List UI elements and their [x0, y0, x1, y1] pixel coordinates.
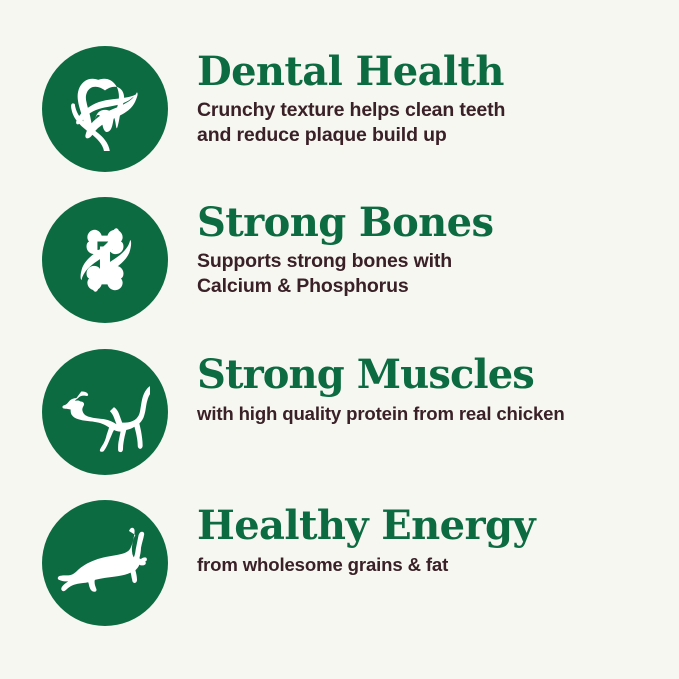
benefit-title: Strong Bones	[197, 201, 659, 245]
benefit-row: Dental Health Crunchy texture helps clea…	[42, 40, 659, 191]
benefit-description: Supports strong bones with Calcium & Pho…	[197, 249, 659, 299]
benefits-panel: Dental Health Crunchy texture helps clea…	[0, 0, 679, 679]
benefit-description: from wholesome grains & fat	[197, 552, 659, 577]
benefit-text: Dental Health Crunchy texture helps clea…	[168, 40, 659, 148]
benefit-description: with high quality protein from real chic…	[197, 401, 659, 426]
benefit-description: Crunchy texture helps clean teeth and re…	[197, 98, 659, 148]
benefit-title: Dental Health	[197, 50, 659, 94]
benefit-row: Healthy Energy from wholesome grains & f…	[42, 494, 659, 645]
leaping-dog-icon	[57, 515, 153, 611]
leaping-dog-icon-badge	[42, 500, 168, 626]
benefit-row: Strong Bones Supports strong bones with …	[42, 191, 659, 342]
benefit-title: Healthy Energy	[197, 504, 659, 548]
benefit-text: Healthy Energy from wholesome grains & f…	[168, 494, 659, 577]
benefit-title: Strong Muscles	[197, 353, 659, 397]
tooth-leaf-icon-badge	[42, 46, 168, 172]
tooth-leaf-icon	[63, 67, 147, 151]
standing-dog-icon-badge	[42, 349, 168, 475]
benefit-text: Strong Bones Supports strong bones with …	[168, 191, 659, 299]
benefit-row: Strong Muscles with high quality protein…	[42, 343, 659, 494]
bone-leaf-icon	[63, 218, 147, 302]
bone-leaf-icon-badge	[42, 197, 168, 323]
benefit-text: Strong Muscles with high quality protein…	[168, 343, 659, 426]
standing-dog-icon	[60, 367, 150, 457]
